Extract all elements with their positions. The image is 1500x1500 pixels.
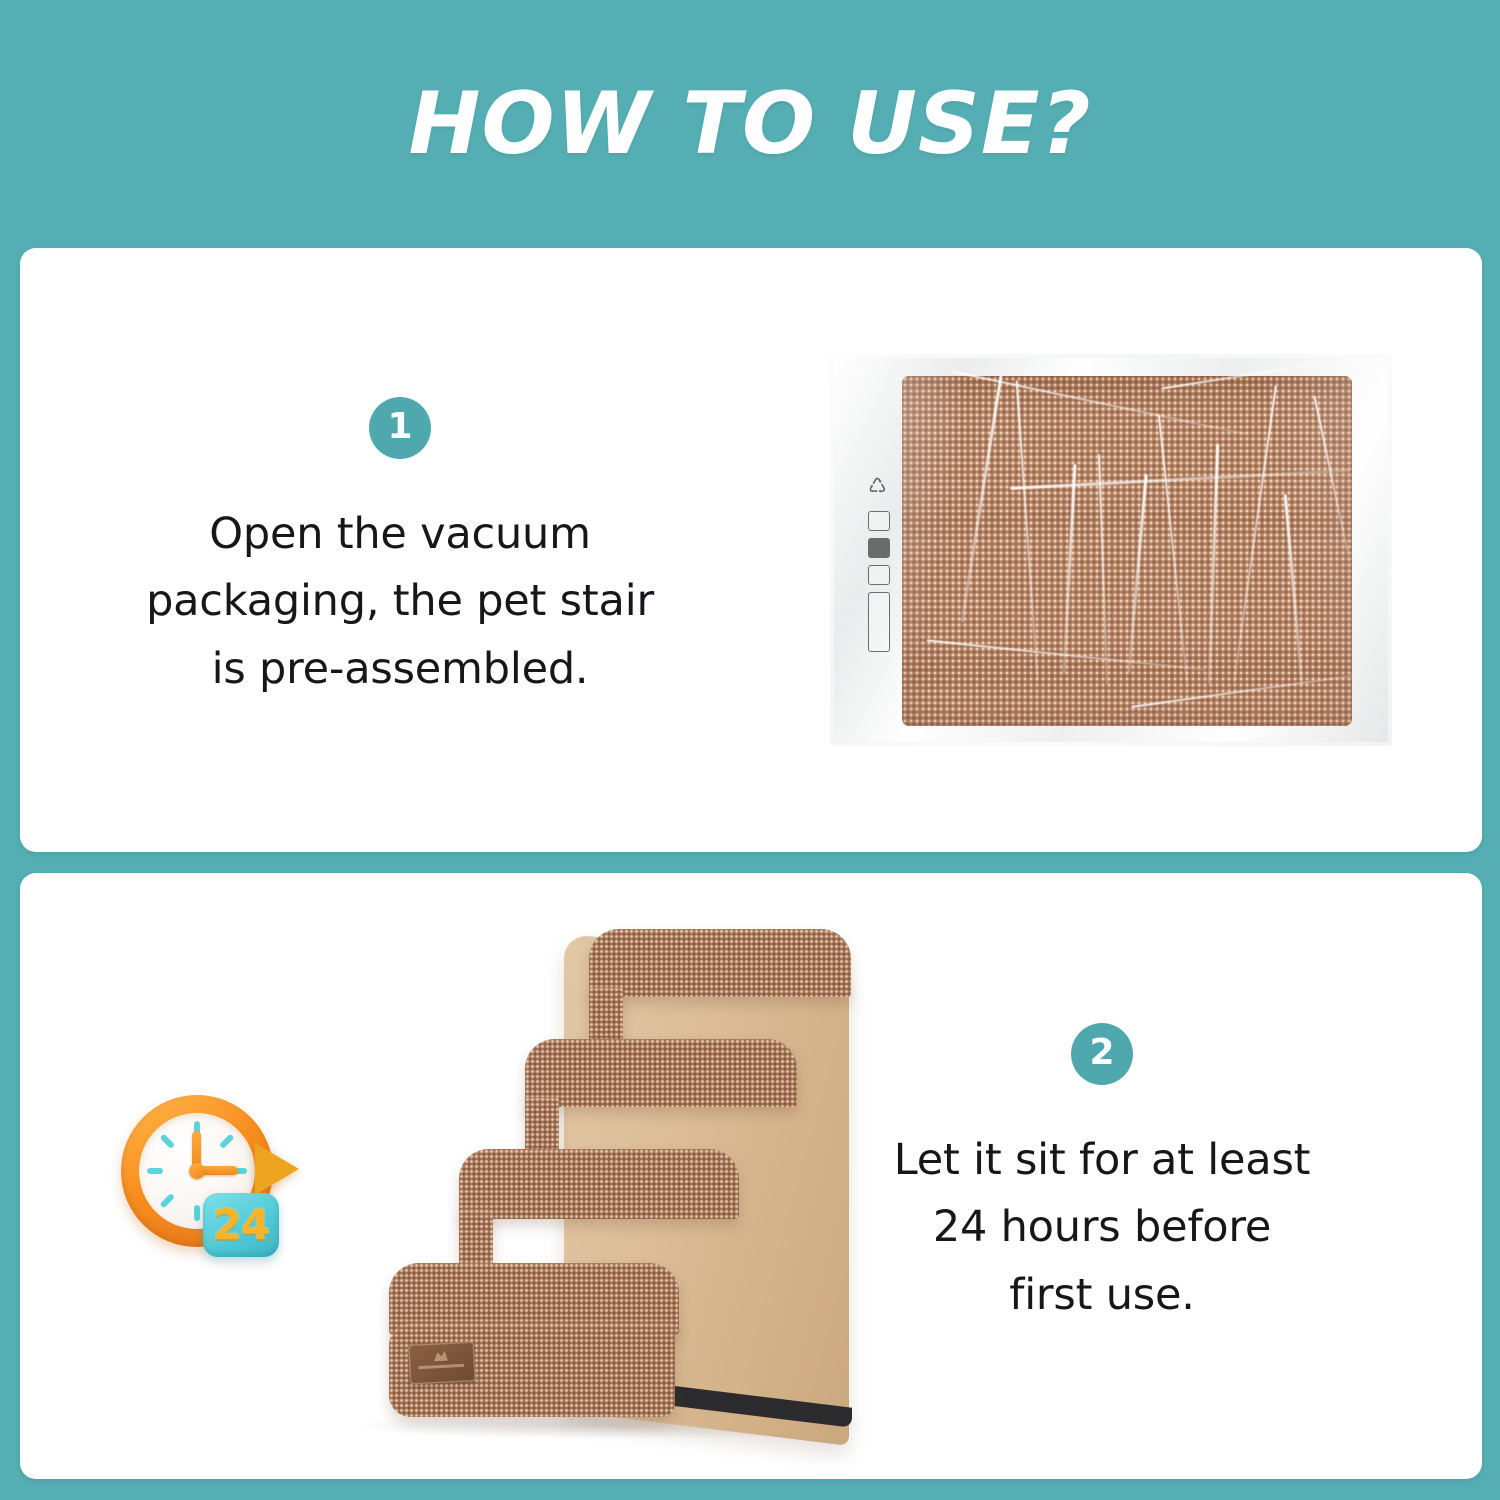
step-1-line-2: packaging, the pet stair [146, 568, 654, 636]
pet-stair-tread-2 [459, 1149, 739, 1219]
recycle-icon [868, 482, 890, 504]
keep-dry-icon [868, 538, 890, 558]
step-2-description: Let it sit for at least 24 hours before … [894, 1127, 1311, 1330]
step-1-line-1: Open the vacuum [146, 501, 654, 569]
step-1-block: 1 Open the vacuum packaging, the pet sta… [120, 397, 680, 704]
step-card-2: 24 [20, 873, 1482, 1479]
step-1-line-3: is pre-assembled. [146, 636, 654, 704]
pet-stair-image [311, 911, 911, 1441]
clock-tick [219, 1134, 235, 1150]
pet-stair-tread-3 [525, 1039, 797, 1107]
do-not-puncture-icon [868, 565, 890, 585]
step-1-description: Open the vacuum packaging, the pet stair… [146, 501, 654, 704]
clock-arrow-icon [255, 1143, 299, 1195]
step-2-line-3: first use. [894, 1262, 1311, 1330]
clock-center-pin [189, 1163, 205, 1179]
step-2-line-1: Let it sit for at least [894, 1127, 1311, 1195]
suffocation-warning-icon [868, 592, 890, 652]
clock-tick [160, 1193, 176, 1209]
step-2-line-2: 24 hours before [894, 1194, 1311, 1262]
hours-badge: 24 [203, 1193, 279, 1257]
24-hour-clock-icon: 24 [115, 1081, 311, 1271]
step-badge-2: 2 [1071, 1023, 1133, 1085]
step-1-text-column: 1 Open the vacuum packaging, the pet sta… [120, 248, 680, 852]
clock-tick [160, 1134, 176, 1150]
clock-tick [147, 1168, 163, 1174]
clock-tick [194, 1205, 200, 1221]
step-1-image-column [830, 248, 1392, 852]
pet-stair-tread-4 [589, 929, 851, 997]
pet-stair-body [311, 911, 911, 1441]
step-card-1: 1 Open the vacuum packaging, the pet sta… [20, 248, 1482, 852]
step-2-block: 2 Let it sit for at least 24 hours befor… [822, 1023, 1382, 1330]
handling-instruction-icon [868, 511, 890, 531]
packaging-warning-icons [866, 482, 892, 652]
hours-badge-value: 24 [213, 1204, 269, 1246]
step-2-image-column: 24 [115, 873, 911, 1479]
page-title: HOW TO USE? [408, 81, 1091, 167]
brand-label-tag [408, 1341, 476, 1384]
page-header: HOW TO USE? [0, 0, 1500, 248]
vacuum-package-image [830, 354, 1392, 746]
step-badge-1: 1 [369, 397, 431, 459]
compressed-foam-stair [902, 376, 1352, 726]
step-2-text-column: 2 Let it sit for at least 24 hours befor… [822, 873, 1382, 1479]
